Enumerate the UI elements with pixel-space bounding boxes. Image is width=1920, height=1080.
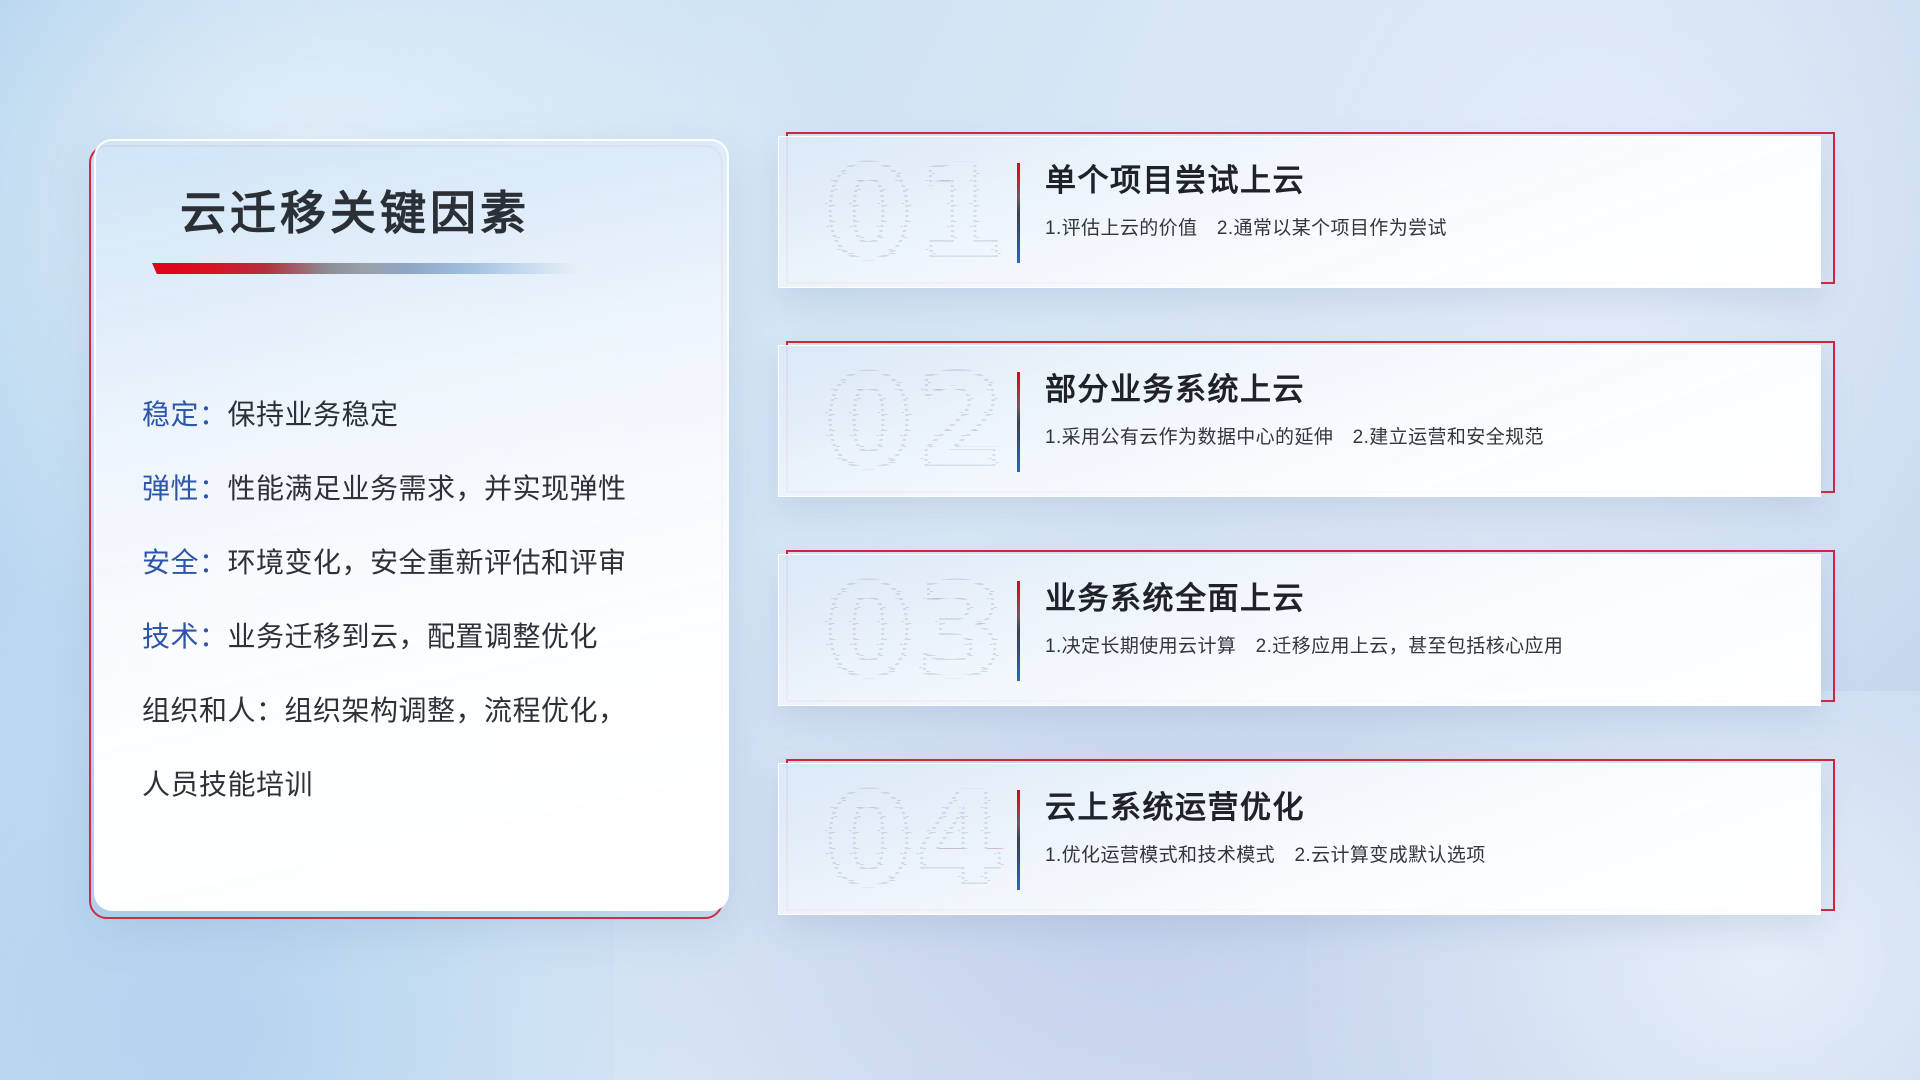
stage-number-glyph-blue-stripes: 03 (801, 554, 1027, 706)
factor-label: 安全： (142, 547, 228, 578)
card-accent-divider (1017, 790, 1020, 890)
card-points: 1.采用公有云作为数据中心的延伸 2.建立运营和安全规范 (1045, 424, 1805, 452)
factor-label: 技术： (142, 621, 228, 652)
title-underline-gradient (152, 263, 592, 274)
slide-canvas: 云迁移关键因素 稳定：保持业务稳定 弹性：性能满足业务需求，并实现弹性 安全：环… (0, 0, 1920, 1080)
factor-value: 环境变化，安全重新评估和评审 (228, 547, 627, 578)
card-points: 1.决定长期使用云计算 2.迁移应用上云，甚至包括核心应用 (1045, 633, 1805, 661)
stage-card[interactable]: 01 01 01 单个项目尝试上云 1.评估上云的价值 2.通常以某个项目作为尝… (778, 136, 1835, 289)
factor-label: 组织和人： (142, 695, 285, 726)
stage-number-glyph: 04 (801, 763, 1031, 915)
stage-number-glyph: 03 (801, 554, 1031, 706)
factor-value: 业务迁移到云，配置调整优化 (228, 621, 599, 652)
list-item: 稳定：保持业务稳定 (142, 378, 702, 452)
stage-card[interactable]: 02 02 02 部分业务系统上云 1.采用公有云作为数据中心的延伸 2.建立运… (778, 345, 1835, 498)
card-title: 业务系统全面上云 (1045, 577, 1805, 621)
stage-number-glyph: 01 (801, 136, 1031, 288)
card-points: 1.优化运营模式和技术模式 2.云计算变成默认选项 (1045, 842, 1805, 870)
page-title: 云迁移关键因素 (180, 177, 530, 243)
list-item: 弹性：性能满足业务需求，并实现弹性 (142, 452, 702, 526)
stage-number-watermark: 02 02 02 (801, 345, 1031, 497)
card-surface: 04 04 04 云上系统运营优化 1.优化运营模式和技术模式 2.云计算变成默… (778, 763, 1821, 915)
card-accent-divider (1017, 372, 1020, 472)
card-text-block: 部分业务系统上云 1.采用公有云作为数据中心的延伸 2.建立运营和安全规范 (1045, 368, 1805, 452)
stage-card[interactable]: 04 04 04 云上系统运营优化 1.优化运营模式和技术模式 2.云计算变成默… (778, 763, 1835, 916)
list-item-continuation: 人员技能培训 (142, 748, 702, 822)
factor-label: 弹性： (142, 473, 228, 504)
list-item: 技术：业务迁移到云，配置调整优化 (142, 600, 702, 674)
card-text-block: 单个项目尝试上云 1.评估上云的价值 2.通常以某个项目作为尝试 (1045, 159, 1805, 243)
card-surface: 03 03 03 业务系统全面上云 1.决定长期使用云计算 2.迁移应用上云，甚… (778, 554, 1821, 706)
stage-number-watermark: 03 03 03 (801, 554, 1031, 706)
stage-number-watermark: 01 01 01 (801, 136, 1031, 288)
key-factors-panel: 云迁移关键因素 稳定：保持业务稳定 弹性：性能满足业务需求，并实现弹性 安全：环… (89, 139, 729, 919)
factor-label: 稳定： (142, 399, 228, 430)
factor-value: 性能满足业务需求，并实现弹性 (228, 473, 627, 504)
card-title: 云上系统运营优化 (1045, 786, 1805, 830)
card-accent-divider (1017, 163, 1020, 263)
key-factors-list: 稳定：保持业务稳定 弹性：性能满足业务需求，并实现弹性 安全：环境变化，安全重新… (142, 378, 702, 822)
factor-value: 保持业务稳定 (228, 399, 399, 430)
stage-number-watermark: 04 04 04 (801, 763, 1031, 915)
stage-number-glyph: 02 (801, 345, 1031, 497)
factor-value: 组织架构调整，流程优化， (285, 695, 627, 726)
stage-number-glyph-red-stripes: 01 (804, 136, 1031, 288)
factor-value: 人员技能培训 (142, 769, 313, 800)
card-accent-divider (1017, 581, 1020, 681)
card-surface: 02 02 02 部分业务系统上云 1.采用公有云作为数据中心的延伸 2.建立运… (778, 345, 1821, 497)
card-title: 部分业务系统上云 (1045, 368, 1805, 412)
card-points: 1.评估上云的价值 2.通常以某个项目作为尝试 (1045, 215, 1805, 243)
card-surface: 01 01 01 单个项目尝试上云 1.评估上云的价值 2.通常以某个项目作为尝… (778, 136, 1821, 288)
stage-card[interactable]: 03 03 03 业务系统全面上云 1.决定长期使用云计算 2.迁移应用上云，甚… (778, 554, 1835, 707)
stage-number-glyph-blue-stripes: 01 (801, 136, 1027, 288)
stage-number-glyph-red-stripes: 03 (804, 554, 1031, 706)
panel-surface: 云迁移关键因素 稳定：保持业务稳定 弹性：性能满足业务需求，并实现弹性 安全：环… (94, 139, 729, 911)
card-title: 单个项目尝试上云 (1045, 159, 1805, 203)
card-text-block: 云上系统运营优化 1.优化运营模式和技术模式 2.云计算变成默认选项 (1045, 786, 1805, 870)
card-text-block: 业务系统全面上云 1.决定长期使用云计算 2.迁移应用上云，甚至包括核心应用 (1045, 577, 1805, 661)
stage-number-glyph-blue-stripes: 04 (801, 763, 1027, 915)
list-item: 安全：环境变化，安全重新评估和评审 (142, 526, 702, 600)
list-item: 组织和人：组织架构调整，流程优化， (142, 674, 702, 748)
stage-number-glyph-blue-stripes: 02 (801, 345, 1027, 497)
stage-number-glyph-red-stripes: 02 (804, 345, 1031, 497)
stage-number-glyph-red-stripes: 04 (804, 763, 1031, 915)
